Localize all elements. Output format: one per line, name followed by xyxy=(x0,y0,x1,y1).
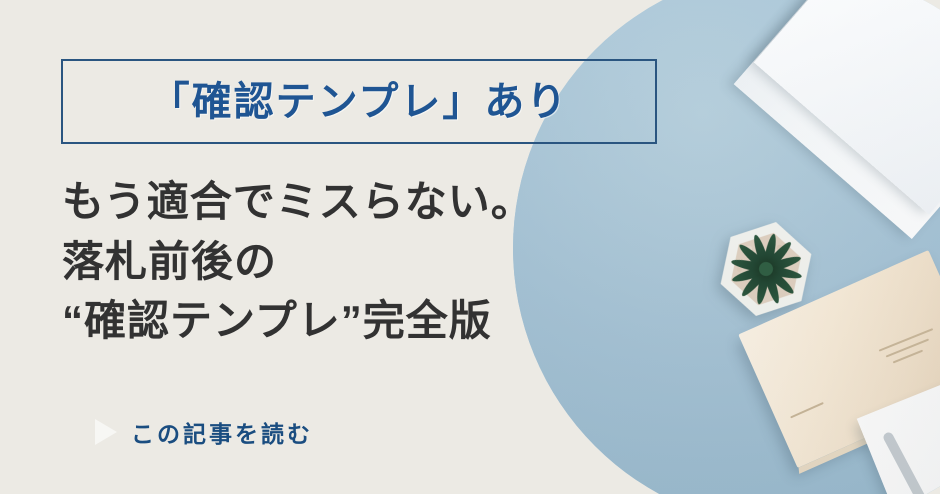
headline-line-2: 落札前後の xyxy=(62,232,662,292)
text-content-area: 「確認テンプレ」あり もう適合でミスらない。 落札前後の “確認テンプレ”完全版… xyxy=(0,0,940,494)
read-article-link[interactable]: この記事を読む xyxy=(95,415,313,449)
headline-line-1: もう適合でミスらない。 xyxy=(62,172,662,232)
read-article-label: この記事を読む xyxy=(131,415,313,449)
badge-label: 「確認テンプレ」あり xyxy=(150,82,569,122)
article-promo-banner[interactable]: BUSIN xyxy=(0,0,940,494)
headline-line-3: “確認テンプレ”完全版 xyxy=(62,291,662,351)
page-title: もう適合でミスらない。 落札前後の “確認テンプレ”完全版 xyxy=(62,172,662,351)
badge-box: 「確認テンプレ」あり xyxy=(61,59,657,144)
play-triangle-icon xyxy=(95,419,117,445)
